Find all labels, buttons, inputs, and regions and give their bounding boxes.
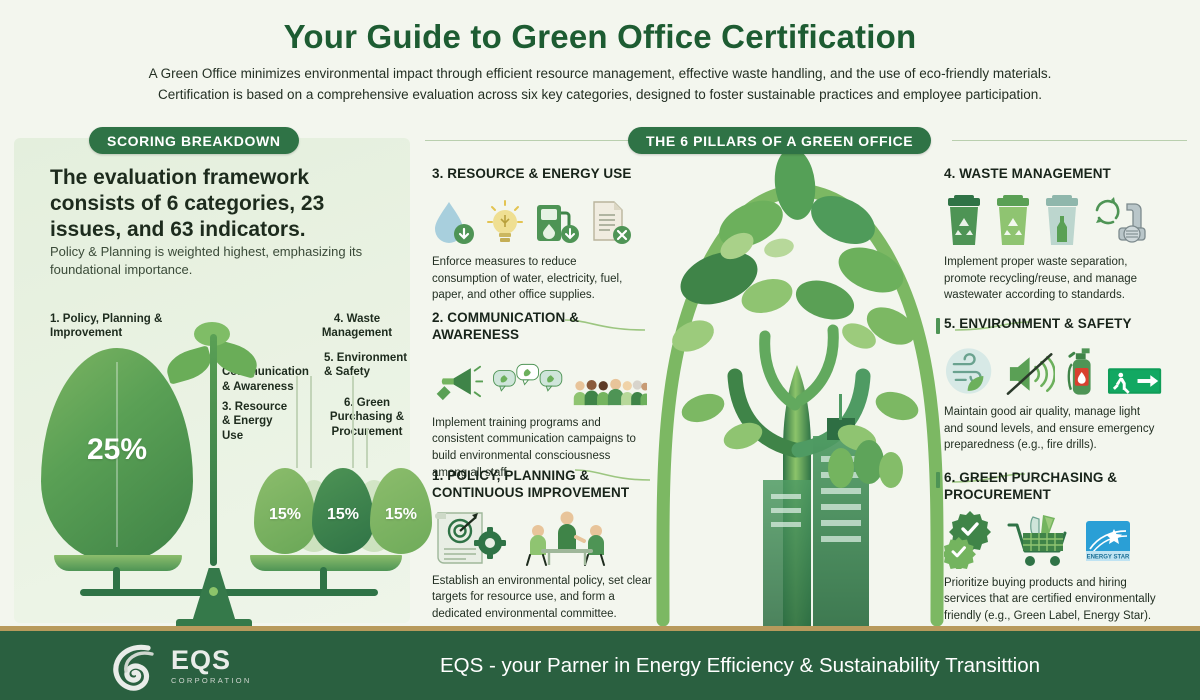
pillar-title-communication: 2. COMMUNICATION & AWARENESS (432, 310, 647, 344)
pillar-body-resource-energy: Enforce measures to reduce consumption o… (432, 254, 642, 304)
infographic-canvas: Your Guide to Green Office Certification… (0, 0, 1200, 700)
wastewater-pipe-icon (1091, 194, 1147, 248)
pillar-section-environment-safety: 5. ENVIRONMENT & SAFETY (944, 316, 1162, 454)
certified-check-icon (944, 511, 994, 569)
eqs-logo-sub: CORPORATION (171, 677, 252, 685)
pillar-section-waste: 4. WASTE MANAGEMENT (944, 166, 1159, 304)
header: Your Guide to Green Office Certification… (0, 0, 1200, 122)
pillar-icons-policy (432, 511, 654, 567)
light-bulb-icon (485, 198, 525, 248)
six-pillars-badge: THE 6 PILLARS OF A GREEN OFFICE (628, 127, 931, 154)
scale-beam-right (214, 589, 378, 596)
svg-text:ENERGY STAR: ENERGY STAR (1087, 554, 1130, 560)
pillar-title-waste: 4. WASTE MANAGEMENT (944, 166, 1159, 183)
pillar-icons-communication (432, 353, 647, 409)
scoring-breakdown-panel: The evaluation framework consists of 6 c… (14, 138, 410, 623)
pillar-icons-waste (944, 192, 1159, 248)
leader-line (352, 376, 354, 468)
scoring-subheading: Policy & Planning is weighted highest, e… (50, 243, 390, 279)
eqs-logo-name: EQS (171, 647, 252, 674)
pillar-body-environment-safety: Maintain good air quality, manage light … (944, 404, 1162, 454)
scoring-breakdown-badge: SCORING BREAKDOWN (89, 127, 299, 154)
paper-reduce-icon (589, 198, 633, 248)
recycle-bin-icon (993, 194, 1033, 248)
weight-value-2: 15% (312, 506, 374, 524)
pillar-icons-green-purchasing: ENERGY STAR (944, 513, 1164, 569)
weight-value-1: 15% (254, 506, 316, 524)
eqs-spiral-icon (108, 638, 164, 694)
pillar-section-resource-energy: 3. RESOURCE & ENERGY USE (432, 166, 642, 304)
pillar-title-resource-energy: 3. RESOURCE & ENERGY USE (432, 166, 642, 183)
section-accent-bar (936, 472, 940, 488)
pillar-body-waste: Implement proper waste separation, promo… (944, 254, 1159, 304)
page-title: Your Guide to Green Office Certification (0, 18, 1200, 56)
sprout-leaf-icon (163, 345, 215, 385)
recycle-bin-icon (944, 194, 984, 248)
speech-bubble-leaf-icon (492, 357, 563, 409)
pillar-title-environment-safety: 5. ENVIRONMENT & SAFETY (944, 316, 1162, 333)
pillar-body-green-purchasing: Prioritize buying products and hiring se… (944, 575, 1164, 625)
air-quality-icon (944, 346, 995, 398)
scale-beam-left (80, 589, 220, 596)
leader-line (366, 428, 368, 468)
divider-left (425, 140, 630, 141)
subtitle-line-1: A Green Office minimizes environmental i… (50, 64, 1150, 85)
noise-mute-icon (1004, 350, 1055, 398)
pillar-icons-resource-energy (432, 192, 642, 248)
weight-value-policy: 25% (41, 433, 193, 467)
scoring-heading: The evaluation framework consists of 6 c… (50, 165, 390, 243)
scale-pivot-dot (209, 587, 218, 596)
footer-tagline: EQS - your Parner in Energy Efficiency &… (300, 631, 1180, 700)
section-accent-bar (936, 318, 940, 334)
glass-bottle-bin-icon (1042, 194, 1082, 248)
subtitle-line-2: Certification is based on a comprehensiv… (50, 85, 1150, 106)
central-tree-illustration (645, 150, 955, 628)
pillar-body-policy: Establish an environmental policy, set c… (432, 573, 654, 623)
pillar-title-policy: 1. POLICY, PLANNING & CONTINUOUS IMPROVE… (432, 468, 654, 502)
document-target-icon (432, 509, 510, 567)
category-label-waste: 4. Waste Management (305, 312, 409, 341)
water-drop-reduce-icon (432, 198, 476, 248)
sprout-stem (210, 334, 217, 566)
pillar-section-policy: 1. POLICY, PLANNING & CONTINUOUS IMPROVE… (432, 468, 654, 623)
pillar-icons-environment-safety (944, 342, 1162, 398)
leader-line (296, 376, 298, 468)
page-subtitle: A Green Office minimizes environmental i… (50, 64, 1150, 106)
fuel-pump-reduce-icon (534, 198, 580, 248)
pillar-section-communication: 2. COMMUNICATION & AWARENESS (432, 310, 647, 481)
leader-line (310, 376, 312, 468)
fire-extinguisher-icon (1064, 344, 1097, 398)
megaphone-icon (432, 357, 483, 409)
category-label-resource: 3. Resource & Energy Use (222, 400, 292, 443)
meeting-table-icon (519, 509, 615, 567)
eqs-logo: EQS CORPORATION (108, 637, 293, 695)
pillar-section-green-purchasing: 6. GREEN PURCHASING & PROCUREMENT (944, 470, 1164, 625)
eqs-wordmark: EQS CORPORATION (171, 647, 252, 685)
pillar-title-green-purchasing: 6. GREEN PURCHASING & PROCUREMENT (944, 470, 1164, 504)
category-label-policy: 1. Policy, Planning & Improvement (50, 312, 180, 341)
divider-right (952, 140, 1187, 141)
shopping-cart-icon (1003, 511, 1075, 569)
emergency-exit-icon (1107, 364, 1162, 398)
energy-star-badge-icon: ENERGY STAR (1084, 519, 1132, 569)
people-group-icon (573, 375, 647, 409)
category-label-environment: 5. Environment & Safety (324, 351, 410, 380)
weight-value-3: 15% (370, 506, 432, 524)
